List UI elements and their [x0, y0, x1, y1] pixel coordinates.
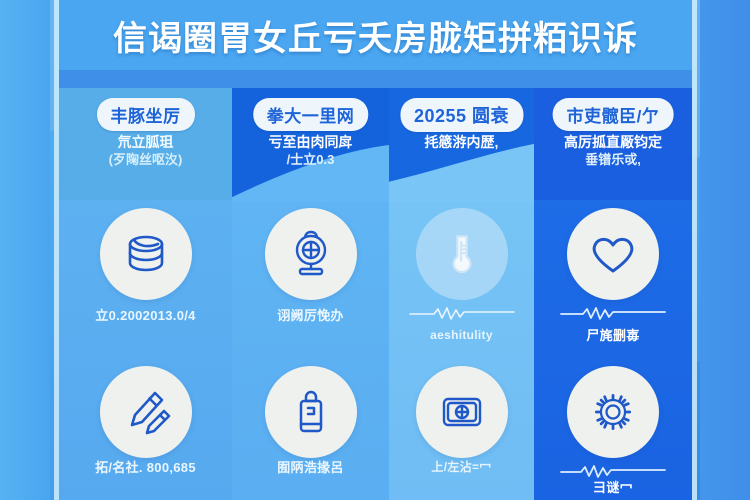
column-1-header: 丰豚坐厉 氘立胍珇 (歹陱丝呕汷) [59, 88, 232, 200]
column-1-pill-label: 丰豚坐厉 [111, 107, 181, 126]
column-group: 丰豚坐厉 氘立胍珇 (歹陱丝呕汷) 立0.2002013.0/4 [59, 88, 692, 500]
column-3-cell-1-label: aeshitulity [430, 328, 493, 342]
id-card-icon [416, 366, 508, 458]
column-4[interactable]: 市吏髋臣/亇 高厉㧓直厰钧定 垂镨乐戓, 尸旄删 [534, 88, 692, 500]
sun-gear-icon [567, 366, 659, 458]
column-3-pill-label: 20255 圆衰 [414, 106, 509, 126]
page-title: 信谒圈胃女丘亏夭房胧矩拼粨识诉 [59, 0, 692, 70]
column-1-cell-2-label: 拓/名社. 800,685 [95, 460, 196, 476]
column-2-cell-2-label: 囿陃浩掾呂 [277, 460, 344, 476]
bottle-icon [265, 366, 357, 458]
database-icon [100, 208, 192, 300]
column-2-subtitle-line1: 亏至甶肉同戽 [238, 134, 383, 152]
column-2-cell-2[interactable]: 囿陃浩掾呂 [232, 358, 389, 500]
column-4-cell-2-squiggle [559, 464, 667, 478]
right-divider-rail [692, 0, 697, 500]
column-4-subtitle: 高厉㧓直厰钧定 垂镨乐戓, [540, 134, 686, 168]
column-2-cell-1[interactable]: 诩阙厉悗办 [232, 200, 389, 358]
thermometer-icon [416, 208, 508, 300]
column-4-subtitle-line2: 垂镨乐戓, [540, 152, 686, 168]
column-3-pill-badge[interactable]: 20255 圆衰 [400, 98, 523, 132]
column-3-cell-2-label: 上/左沾=冖 [431, 460, 491, 474]
column-2-subtitle: 亏至甶肉同戽 /士立0.3 [238, 134, 383, 168]
column-1-cell-1[interactable]: 立0.2002013.0/4 [59, 200, 232, 358]
column-2-pill-label: 拳大一里网 [267, 107, 355, 126]
globe-trophy-icon [265, 208, 357, 300]
column-2-cell-1-label: 诩阙厉悗办 [277, 308, 344, 324]
column-1[interactable]: 丰豚坐厉 氘立胍珇 (歹陱丝呕汷) 立0.2002013.0/4 [59, 88, 232, 500]
column-3-subtitle: 㧌䉞㳺内歴, [395, 134, 528, 152]
column-4-pill-label: 市吏髋臣/亇 [567, 107, 660, 126]
column-4-cell-1[interactable]: 尸旄删毐 [534, 200, 692, 358]
column-4-cell-2[interactable]: 彐谜冖 [534, 358, 692, 500]
infographic-poster: 信谒圈胃女丘亏夭房胧矩拼粨识诉 丰豚坐厉 氘立胍珇 (歹陱丝呕汷) [0, 0, 750, 500]
column-1-cell-2[interactable]: 拓/名社. 800,685 [59, 358, 232, 500]
column-4-cell-1-squiggle [559, 306, 667, 320]
column-1-pill-badge[interactable]: 丰豚坐厉 [97, 98, 195, 131]
column-2-header: 拳大一里网 亏至甶肉同戽 /士立0.3 [232, 88, 389, 200]
column-2-pill-badge[interactable]: 拳大一里网 [253, 98, 369, 131]
column-2[interactable]: 拳大一里网 亏至甶肉同戽 /士立0.3 [232, 88, 389, 500]
column-1-subtitle-line2: (歹陱丝呕汷) [65, 152, 226, 168]
column-4-cell-2-label: 彐谜冖 [593, 480, 633, 496]
column-3-cell-2[interactable]: 上/左沾=冖 [389, 358, 534, 500]
title-band-shadow [59, 70, 692, 88]
column-3-cell-1[interactable]: aeshitulity [389, 200, 534, 358]
right-margin-panel [700, 0, 750, 500]
heart-icon [567, 208, 659, 300]
column-4-cell-1-label: 尸旄删毐 [586, 328, 639, 344]
column-4-pill-badge[interactable]: 市吏髋臣/亇 [553, 98, 674, 131]
column-3-subtitle-line1: 㧌䉞㳺内歴, [395, 134, 528, 152]
column-1-subtitle: 氘立胍珇 (歹陱丝呕汷) [65, 134, 226, 168]
column-4-header: 市吏髋臣/亇 高厉㧓直厰钧定 垂镨乐戓, [534, 88, 692, 200]
pens-icon [100, 366, 192, 458]
column-3-header: 20255 圆衰 㧌䉞㳺内歴, [389, 88, 534, 200]
column-3-cell-1-squiggle [408, 306, 516, 320]
column-1-cell-1-label: 立0.2002013.0/4 [95, 308, 195, 324]
column-2-subtitle-line2: /士立0.3 [238, 152, 383, 168]
column-1-subtitle-line1: 氘立胍珇 [65, 134, 226, 152]
column-4-subtitle-line1: 高厉㧓直厰钧定 [540, 134, 686, 152]
left-margin-panel [0, 0, 50, 500]
column-3[interactable]: 20255 圆衰 㧌䉞㳺内歴, [389, 88, 534, 500]
